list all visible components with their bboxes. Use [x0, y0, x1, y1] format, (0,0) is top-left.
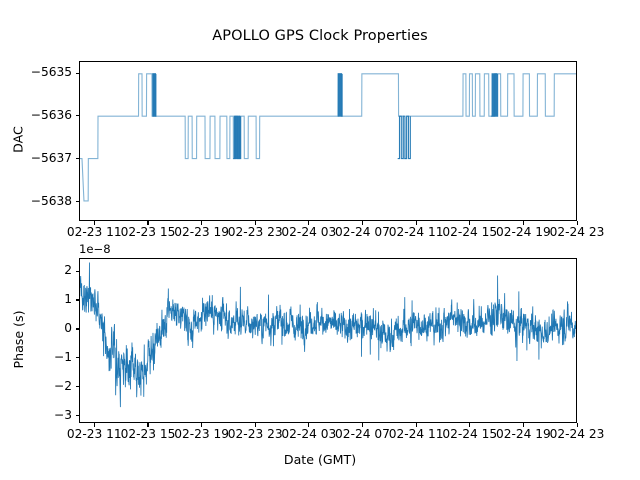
x-tick-label: 02-24 15	[442, 225, 497, 239]
x-tick-label: 02-24 03	[281, 225, 336, 239]
x-tick-mark	[94, 221, 95, 225]
x-tick-label: 02-24 23	[550, 225, 605, 239]
x-tick-mark	[362, 423, 363, 427]
phase-ylabel: Phase (s)	[11, 257, 26, 422]
x-tick-label: 02-23 15	[121, 225, 176, 239]
x-tick-mark	[308, 221, 309, 225]
y-tick-mark	[76, 115, 80, 116]
y-tick-mark	[76, 201, 80, 202]
phase-xlabel: Date (GMT)	[0, 452, 640, 467]
x-tick-mark	[469, 221, 470, 225]
x-tick-mark	[255, 423, 256, 427]
x-tick-mark	[147, 423, 148, 427]
x-tick-mark	[362, 221, 363, 225]
x-tick-label: 02-23 23	[228, 225, 283, 239]
x-tick-label: 02-24 11	[389, 427, 444, 441]
x-tick-mark	[94, 423, 95, 427]
x-tick-label: 02-23 11	[67, 225, 122, 239]
phase-axes	[79, 258, 577, 423]
x-tick-mark	[255, 221, 256, 225]
y-tick-mark	[76, 73, 80, 74]
x-tick-mark	[523, 423, 524, 427]
x-tick-mark	[416, 221, 417, 225]
y-tick-mark	[76, 299, 80, 300]
x-tick-mark	[469, 423, 470, 427]
y-tick-mark	[76, 271, 80, 272]
x-tick-label: 02-24 23	[550, 427, 605, 441]
y-tick-mark	[76, 158, 80, 159]
y-tick-mark	[76, 415, 80, 416]
x-tick-mark	[201, 221, 202, 225]
x-tick-label: 02-23 19	[174, 427, 229, 441]
y-tick-mark	[76, 357, 80, 358]
x-tick-mark	[577, 423, 578, 427]
x-tick-label: 02-24 19	[496, 225, 551, 239]
figure-title: APOLLO GPS Clock Properties	[0, 28, 640, 44]
y-tick-mark	[76, 386, 80, 387]
x-tick-mark	[416, 423, 417, 427]
x-tick-label: 02-23 19	[174, 225, 229, 239]
x-tick-mark	[523, 221, 524, 225]
matplotlib-figure: APOLLO GPS Clock Properties −5635−5636−5…	[0, 0, 640, 480]
x-tick-label: 02-23 15	[121, 427, 176, 441]
y-tick-mark	[76, 328, 80, 329]
dac-axes	[79, 61, 577, 221]
dac-ylabel: DAC	[11, 60, 26, 220]
x-tick-label: 02-24 15	[442, 427, 497, 441]
x-tick-label: 02-23 11	[67, 427, 122, 441]
x-tick-mark	[147, 221, 148, 225]
phase-noise-line	[80, 259, 576, 422]
x-tick-label: 02-23 23	[228, 427, 283, 441]
x-tick-mark	[577, 221, 578, 225]
x-tick-label: 02-24 11	[389, 225, 444, 239]
x-tick-label: 02-24 19	[496, 427, 551, 441]
x-tick-label: 02-24 07	[335, 427, 390, 441]
x-tick-mark	[308, 423, 309, 427]
phase-y-offset-text: 1e−8	[79, 242, 111, 256]
x-tick-label: 02-24 07	[335, 225, 390, 239]
x-tick-label: 02-24 03	[281, 427, 336, 441]
x-tick-mark	[201, 423, 202, 427]
dac-step-line	[80, 62, 576, 220]
